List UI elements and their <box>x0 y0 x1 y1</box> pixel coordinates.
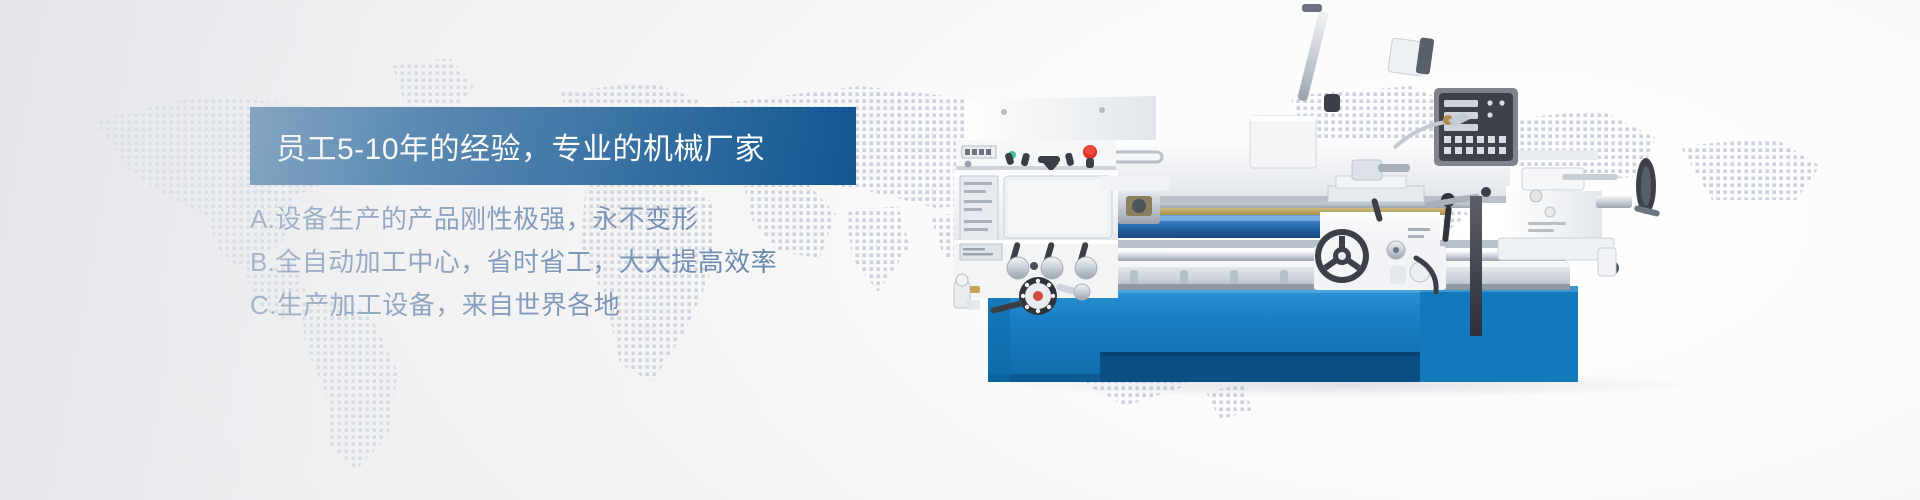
list-item: A.设备生产的产品刚性极强，永不变形 <box>250 198 777 241</box>
machine-base <box>988 286 1578 382</box>
promo-banner: 员工5-10年的经验，专业的机械厂家 A.设备生产的产品刚性极强，永不变形 B.… <box>0 0 1920 500</box>
metal-lathe-machine-image <box>950 0 1750 400</box>
machine-tailstock <box>1498 150 1660 276</box>
coolant-arm <box>1297 4 1340 112</box>
copy-block: 员工5-10年的经验，专业的机械厂家 A.设备生产的产品刚性极强，永不变形 B.… <box>0 0 900 500</box>
headline-text: 员工5-10年的经验，专业的机械厂家 <box>250 124 765 168</box>
tailstock-handwheel[interactable] <box>1634 158 1661 217</box>
headline-banner: 员工5-10年的经验，专业的机械厂家 <box>250 107 856 185</box>
feature-list: A.设备生产的产品刚性极强，永不变形 B.全自动加工中心，省时省工，大大提高效率… <box>250 198 777 327</box>
list-item: C.生产加工设备，来自世界各地 <box>250 284 777 327</box>
chuck-guard-panel <box>1388 37 1435 76</box>
machine-canopy <box>964 84 1156 140</box>
carriage-handwheel[interactable] <box>1315 229 1369 283</box>
list-item: B.全自动加工中心，省时省工，大大提高效率 <box>250 241 777 284</box>
carriage-shield <box>1250 116 1316 168</box>
